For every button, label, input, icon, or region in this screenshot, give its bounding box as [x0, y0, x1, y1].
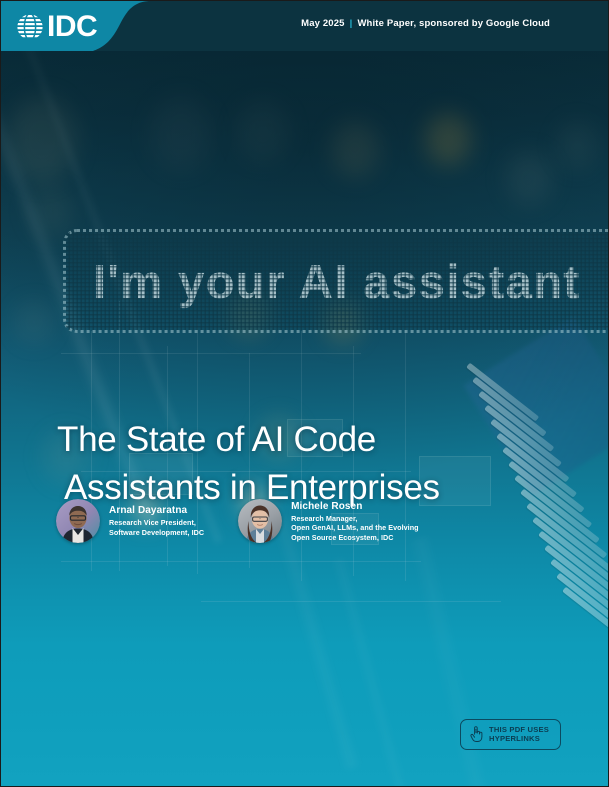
- author-name: Arnal Dayaratna: [109, 504, 204, 517]
- background-vignette: [1, 1, 608, 786]
- author-entry: Arnal Dayaratna Research Vice President,…: [56, 499, 204, 543]
- idc-logo-text: IDC: [47, 12, 97, 42]
- pdf-hyperlinks-badge[interactable]: THIS PDF USES HYPERLINKS: [460, 719, 561, 750]
- pdf-badge-label: THIS PDF USES HYPERLINKS: [489, 725, 549, 744]
- ai-assistant-banner: I'm your AI assistant: [63, 229, 609, 333]
- dot-matrix-text: I'm your AI assistant: [93, 256, 581, 308]
- avatar-michele-rosen: [238, 499, 282, 543]
- header-meta: May 2025|White Paper, sponsored by Googl…: [301, 18, 550, 29]
- background-photo: [1, 1, 608, 786]
- author-info: Arnal Dayaratna Research Vice President,…: [109, 504, 204, 537]
- idc-logo[interactable]: IDC: [15, 10, 97, 43]
- page-header: IDC May 2025|White Paper, sponsored by G…: [1, 1, 608, 51]
- author-role: Research Vice President, Software Develo…: [109, 518, 204, 537]
- author-role: Research Manager, Open GenAI, LLMs, and …: [291, 514, 419, 543]
- document-cover-page: I'm your AI assistant: [0, 0, 609, 787]
- author-entry: Michele Rosen Research Manager, Open Gen…: [238, 499, 419, 543]
- author-name: Michele Rosen: [291, 500, 419, 513]
- publication-date: May 2025: [301, 18, 344, 29]
- document-type: White Paper, sponsored by Google Cloud: [357, 18, 550, 29]
- avatar-arnal-dayaratna: [56, 499, 100, 543]
- header-curve-shape: [93, 1, 203, 51]
- authors-list: Arnal Dayaratna Research Vice President,…: [56, 499, 419, 543]
- idc-globe-icon: [15, 12, 45, 42]
- meta-separator: |: [350, 18, 353, 29]
- author-info: Michele Rosen Research Manager, Open Gen…: [291, 500, 419, 543]
- title-line-1: The State of AI Code: [57, 420, 376, 459]
- hand-pointer-icon: [469, 725, 484, 743]
